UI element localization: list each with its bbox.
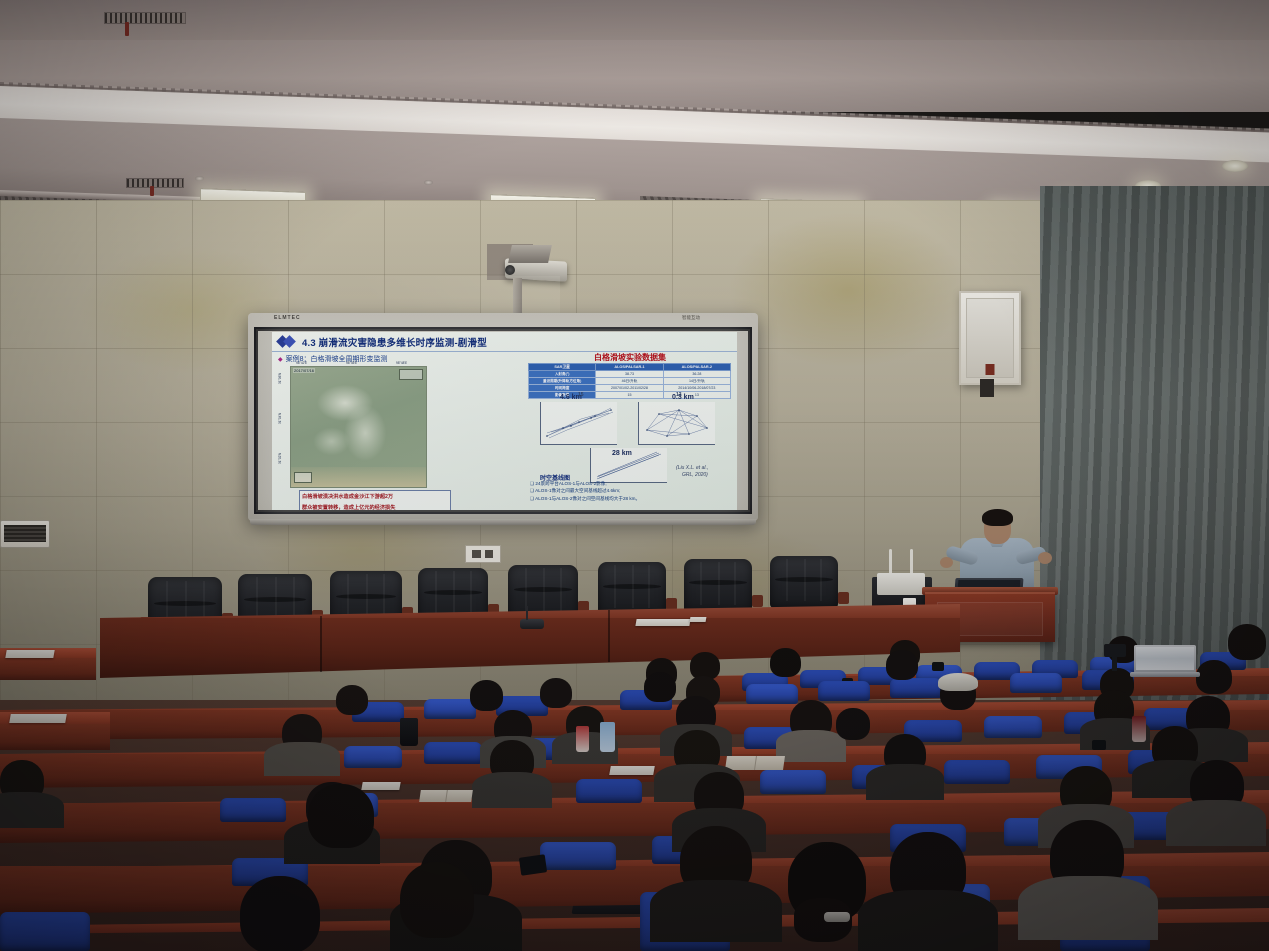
board-right-label: 智能互动 [682, 315, 700, 321]
th-0: SAR卫星 [529, 364, 596, 371]
person-shoulders [1166, 800, 1266, 846]
chair-armrest [666, 598, 677, 610]
chair-rib [804, 559, 806, 601]
sar-coord-top-left: 98°42'E [296, 361, 307, 365]
audience-e3 [1060, 766, 1112, 816]
person-head [336, 685, 368, 715]
th-2: ALOS/PALSAR-2 [663, 364, 730, 371]
panel-desk-seam [608, 610, 610, 662]
chair-rib [383, 574, 385, 620]
chair-rib [614, 565, 616, 608]
baseline-plot-left [540, 402, 617, 445]
recording-laptop[interactable] [1134, 645, 1196, 673]
person-headband [824, 912, 850, 922]
wall-power-outlet [465, 545, 501, 563]
audience-f4 [788, 842, 866, 922]
open-notebook[interactable] [725, 756, 785, 770]
person-shoulders [264, 742, 340, 776]
slide-case-bullet: 案例8：白格滑坡全周期形变监测 [278, 354, 388, 364]
phone-raised[interactable] [519, 854, 547, 875]
checklist-item-3: ALOS-1与ALOS-2像对之间空间基线均大于28 km。 [530, 495, 734, 502]
water-bottle-red[interactable] [576, 726, 589, 752]
person-head [1196, 660, 1232, 694]
person-shoulders [866, 764, 944, 800]
seat-b6[interactable] [818, 681, 870, 701]
air-vent-soffit [126, 178, 184, 188]
projected-slide: 4.3 崩滑流灾害隐患多维长时序监测-剧滑型 案例8：白格滑坡全周期形变监测 白… [272, 332, 737, 510]
presenter-hand-right [1038, 552, 1052, 564]
audience-f3 [680, 826, 752, 896]
audience-f8 [400, 862, 474, 938]
sar-date-label: 2017/07/16 [293, 368, 315, 373]
slide-caption-line1: 白格滑坡溃决洪水造成金沙江下游超2万 [300, 491, 450, 502]
audience-f5 [890, 832, 966, 908]
thermos-bottle[interactable] [400, 718, 418, 746]
person-shoulders [1018, 876, 1158, 940]
sprinkler-head-mid [424, 180, 433, 185]
td-1-1: 46日/升轨 [596, 378, 663, 385]
slide-caption-box: 白格滑坡溃决洪水造成金沙江下游超2万 群众被安置转移，造成上亿元的经济损失 [299, 490, 451, 510]
chair-rib [718, 562, 720, 604]
water-bottle-blue[interactable] [600, 722, 615, 752]
side-desk-paper-1[interactable] [5, 650, 54, 658]
person-head [540, 678, 572, 708]
audience-b3 [540, 678, 572, 708]
audience-a6 [1228, 624, 1266, 660]
table-header-row: SAR卫星 ALOS/PALSAR-1 ALOS/PALSAR-2 [529, 364, 731, 371]
slide-caption-line2: 群众被安置转移，造成上亿元的经济损失 [300, 502, 450, 510]
audience-a3 [770, 648, 801, 677]
table-row: 入射角(°) 38.73 36.28 [529, 371, 731, 378]
slide-citation-line2: GRL, 2020) [682, 472, 708, 479]
audience-b6 [940, 676, 976, 710]
projector-pole [513, 278, 522, 316]
audience-e2 [694, 772, 744, 820]
projector-lens [505, 265, 515, 275]
air-vent-upper [104, 12, 186, 24]
sprinkler-head-left [195, 176, 204, 181]
person-head [886, 650, 918, 680]
wall-ac-vent [0, 520, 50, 548]
table-row: 时间跨度 2007/01/02-2011/02/28 2014/10/06-20… [529, 385, 731, 392]
chair-rib [453, 571, 455, 616]
person-shoulders [0, 792, 64, 828]
side-desk-left-1-face [0, 658, 96, 680]
td-2-0: 时间跨度 [529, 385, 596, 392]
person-head [770, 648, 801, 677]
td-3-1: 15 [596, 392, 663, 399]
audience-c1 [282, 714, 322, 752]
chair-rib [700, 562, 702, 604]
speaker-logo [986, 364, 995, 375]
seat-b2[interactable] [424, 699, 476, 719]
ceiling-upper-shadow [0, 0, 1269, 40]
person-head [308, 784, 374, 848]
audience-d5 [884, 734, 926, 774]
audience-c7 [1094, 690, 1134, 728]
loose-papers-c[interactable] [609, 766, 655, 775]
seat-d7[interactable] [944, 760, 1010, 784]
baseline-plot-right [638, 402, 715, 445]
person-shoulders [472, 772, 552, 808]
audience-d3 [490, 740, 534, 782]
wireless-router [877, 573, 925, 595]
person-head [240, 876, 320, 951]
sar-coord-left-2: 31°04'N [278, 413, 282, 424]
sprinkler-pipe-soffit [150, 186, 154, 196]
audience-c5 [790, 700, 832, 740]
water-bottle-right[interactable] [1132, 716, 1146, 742]
chair-rib [786, 559, 788, 601]
presenter-hair [982, 509, 1013, 526]
audience-b2 [470, 680, 503, 711]
table-row: 影像数量 15 13 [529, 392, 731, 399]
presenter-hand-left [940, 557, 953, 568]
speaker-wall-mount [980, 379, 994, 397]
video-camera[interactable] [1104, 644, 1126, 657]
chair-rib [820, 559, 822, 601]
downlight-3 [1222, 160, 1248, 172]
board-brand-label: ELMTEC [274, 315, 301, 321]
front-chair-8[interactable] [770, 556, 838, 608]
phone-on-desk-a[interactable] [932, 662, 944, 671]
person-head [400, 862, 474, 938]
person-cap [938, 673, 978, 691]
slide-sar-image: 2017/07/16 [290, 366, 427, 488]
chair-rib [470, 571, 472, 616]
slide-diamond-icon [278, 336, 298, 347]
seat-d1[interactable] [220, 798, 286, 822]
audience-f7 [240, 876, 320, 951]
router-antenna-right [910, 549, 913, 575]
sar-north-arrow [399, 369, 423, 380]
audience-e4 [1190, 760, 1244, 812]
seat-e2[interactable] [540, 842, 616, 870]
side-desk-paper-2[interactable] [9, 714, 67, 723]
seat-c2[interactable] [344, 746, 402, 768]
td-0-2: 36.28 [663, 371, 730, 378]
sar-coord-top-right: 98°48'E [396, 361, 407, 365]
sar-scale-bar [294, 472, 312, 483]
seat-d5[interactable] [760, 770, 826, 794]
td-1-2: 14日/升轨 [663, 378, 730, 385]
person-head [470, 680, 503, 711]
notebook-d[interactable] [419, 790, 473, 802]
chair-rib [632, 565, 634, 608]
seat-b8[interactable] [1010, 673, 1062, 693]
chair-armrest [838, 592, 849, 604]
sar-coord-top-mid: 98°45'E [346, 361, 357, 365]
desk-papers[interactable] [635, 619, 690, 626]
slide-checklist: 24景跨平台ALOS-1与ALOS-2影像; ALOS-1像对之间最大空间基线超… [530, 480, 734, 502]
audience-b4 [644, 672, 676, 702]
baseline-right-count: 13 [676, 392, 682, 398]
th-1: ALOS/PALSAR-1 [596, 364, 663, 371]
router-antenna-left [889, 549, 892, 575]
sprinkler-pipe-upper [125, 22, 129, 36]
phone-on-desk-c[interactable] [1092, 740, 1106, 750]
seat-b7[interactable] [890, 678, 942, 698]
td-2-1: 2007/01/02-2011/02/28 [596, 385, 663, 392]
audience-d1 [0, 760, 44, 802]
checklist-item-2: ALOS-1像对之间最大空间基线超过4.6km; [530, 487, 734, 494]
slide-title: 4.3 崩滑流灾害隐患多维长时序监测-剧滑型 [302, 335, 487, 349]
whiteboard-pen-tray [250, 519, 756, 525]
audience-f6 [1050, 820, 1124, 894]
desk-microphone[interactable] [520, 619, 544, 629]
chair-rib [734, 562, 736, 604]
wall-speaker [959, 291, 1021, 385]
audience-c4 [676, 696, 716, 734]
chair-armrest [752, 595, 763, 607]
td-0-0: 入射角(°) [529, 371, 596, 378]
audience-c6 [836, 708, 870, 740]
td-0-1: 38.73 [596, 371, 663, 378]
video-camera-stand [1112, 657, 1117, 671]
desk-microphone-neck [526, 606, 528, 620]
sar-coord-left-1: 31°06'N [278, 373, 282, 384]
slide-citation-line1: (Liu X.L. et al., [676, 465, 708, 472]
chair-rib [366, 574, 368, 620]
sar-coord-left-3: 31°02'N [278, 453, 282, 464]
audience-b1 [336, 685, 368, 715]
chair-rib [347, 574, 349, 620]
seat-c3[interactable] [424, 742, 482, 764]
person-head [644, 672, 676, 702]
chair-rib [560, 568, 562, 612]
audience-b8 [1196, 660, 1232, 694]
desk-papers-2[interactable] [690, 617, 707, 622]
recording-laptop-base [1130, 672, 1200, 677]
audience-f1 [308, 784, 374, 848]
chair-rib [648, 565, 650, 608]
side-desk-left-2-face [0, 724, 110, 750]
seat-f1[interactable] [0, 912, 90, 951]
person-head [836, 708, 870, 740]
seat-d4[interactable] [576, 779, 642, 803]
baseline-bottom-annotation: 28 km [612, 450, 632, 457]
person-shoulders [858, 890, 998, 951]
front-chair-7[interactable] [684, 559, 752, 612]
seat-c8[interactable] [984, 716, 1042, 738]
audience-d4 [674, 730, 720, 774]
slide-dataset-table: SAR卫星 ALOS/PALSAR-1 ALOS/PALSAR-2 入射角(°)… [528, 363, 731, 399]
person-head [1228, 624, 1266, 660]
td-1-0: 重访周期(升降轨方位角) [529, 378, 596, 385]
chair-rib [435, 571, 437, 616]
baseline-left-count: 15 [578, 392, 584, 398]
audience-b9 [886, 650, 918, 680]
checklist-item-1: 24景跨平台ALOS-1与ALOS-2影像; [530, 480, 734, 487]
td-2-2: 2014/10/06-2018/07/23 [663, 385, 730, 392]
lecture-hall-photo: ELMTEC 智能互动 4.3 崩滑流灾害隐患多维长时序监测-剧滑型 案例8：白… [0, 0, 1269, 951]
chair-rib [543, 568, 545, 612]
projector-bracket-arm [508, 245, 552, 263]
panel-desk-seam [320, 616, 322, 672]
person-shoulders [650, 880, 782, 942]
slide-table-title: 白格滑坡实验数据集 [530, 352, 730, 363]
front-chair-6[interactable] [598, 562, 666, 616]
table-row: 重访周期(升降轨方位角) 46日/升轨 14日/升轨 [529, 378, 731, 385]
